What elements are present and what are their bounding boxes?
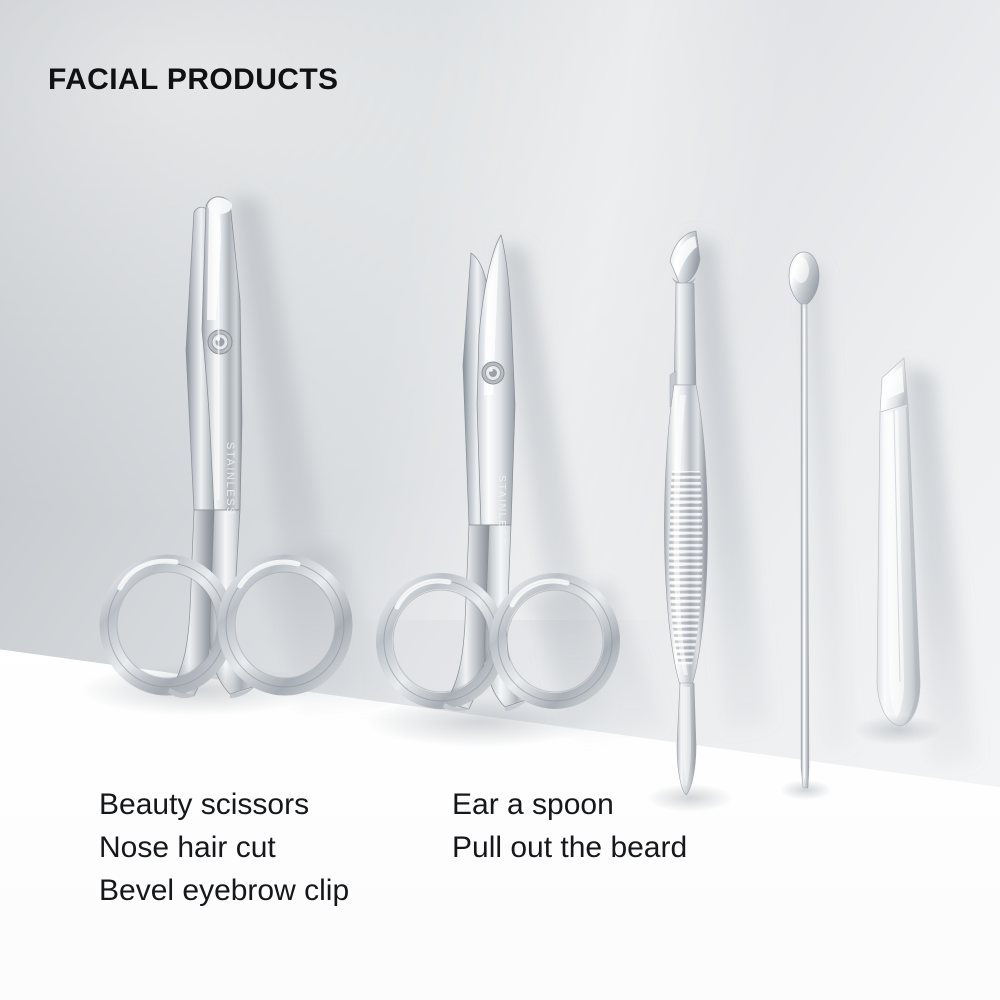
- pivot-screw: [482, 362, 504, 384]
- caption-left-line-2: Nose hair cut: [99, 826, 349, 869]
- finger-ring-right: [226, 562, 344, 687]
- tool-slant-tweezers: [848, 352, 968, 792]
- caption-right: Ear a spoon Pull out the beard: [452, 783, 687, 869]
- stainless-engraving: STAINLESS: [496, 475, 508, 546]
- caption-left: Beauty scissors Nose hair cut Bevel eyeb…: [99, 783, 349, 912]
- tool-ear-pick-spatula: [640, 225, 740, 795]
- caption-right-line-1: Ear a spoon: [452, 783, 687, 826]
- finger-ring-right: [498, 581, 612, 701]
- tool-round-tip-scissors: STAINLESS: [90, 180, 370, 710]
- tool-pointed-tip-scissors: STAINLESS: [365, 225, 625, 725]
- page-title: FACIAL PRODUCTS: [48, 63, 338, 97]
- caption-left-line-3: Bevel eyebrow clip: [99, 869, 349, 912]
- caption-left-line-1: Beauty scissors: [99, 783, 349, 826]
- product-image: STAINLESS: [0, 0, 1000, 1000]
- tool-ear-spoon-rod: [780, 248, 830, 793]
- caption-right-line-2: Pull out the beard: [452, 826, 687, 869]
- pick-neck: [674, 283, 696, 385]
- stainless-engraving: STAINLESS: [224, 442, 236, 516]
